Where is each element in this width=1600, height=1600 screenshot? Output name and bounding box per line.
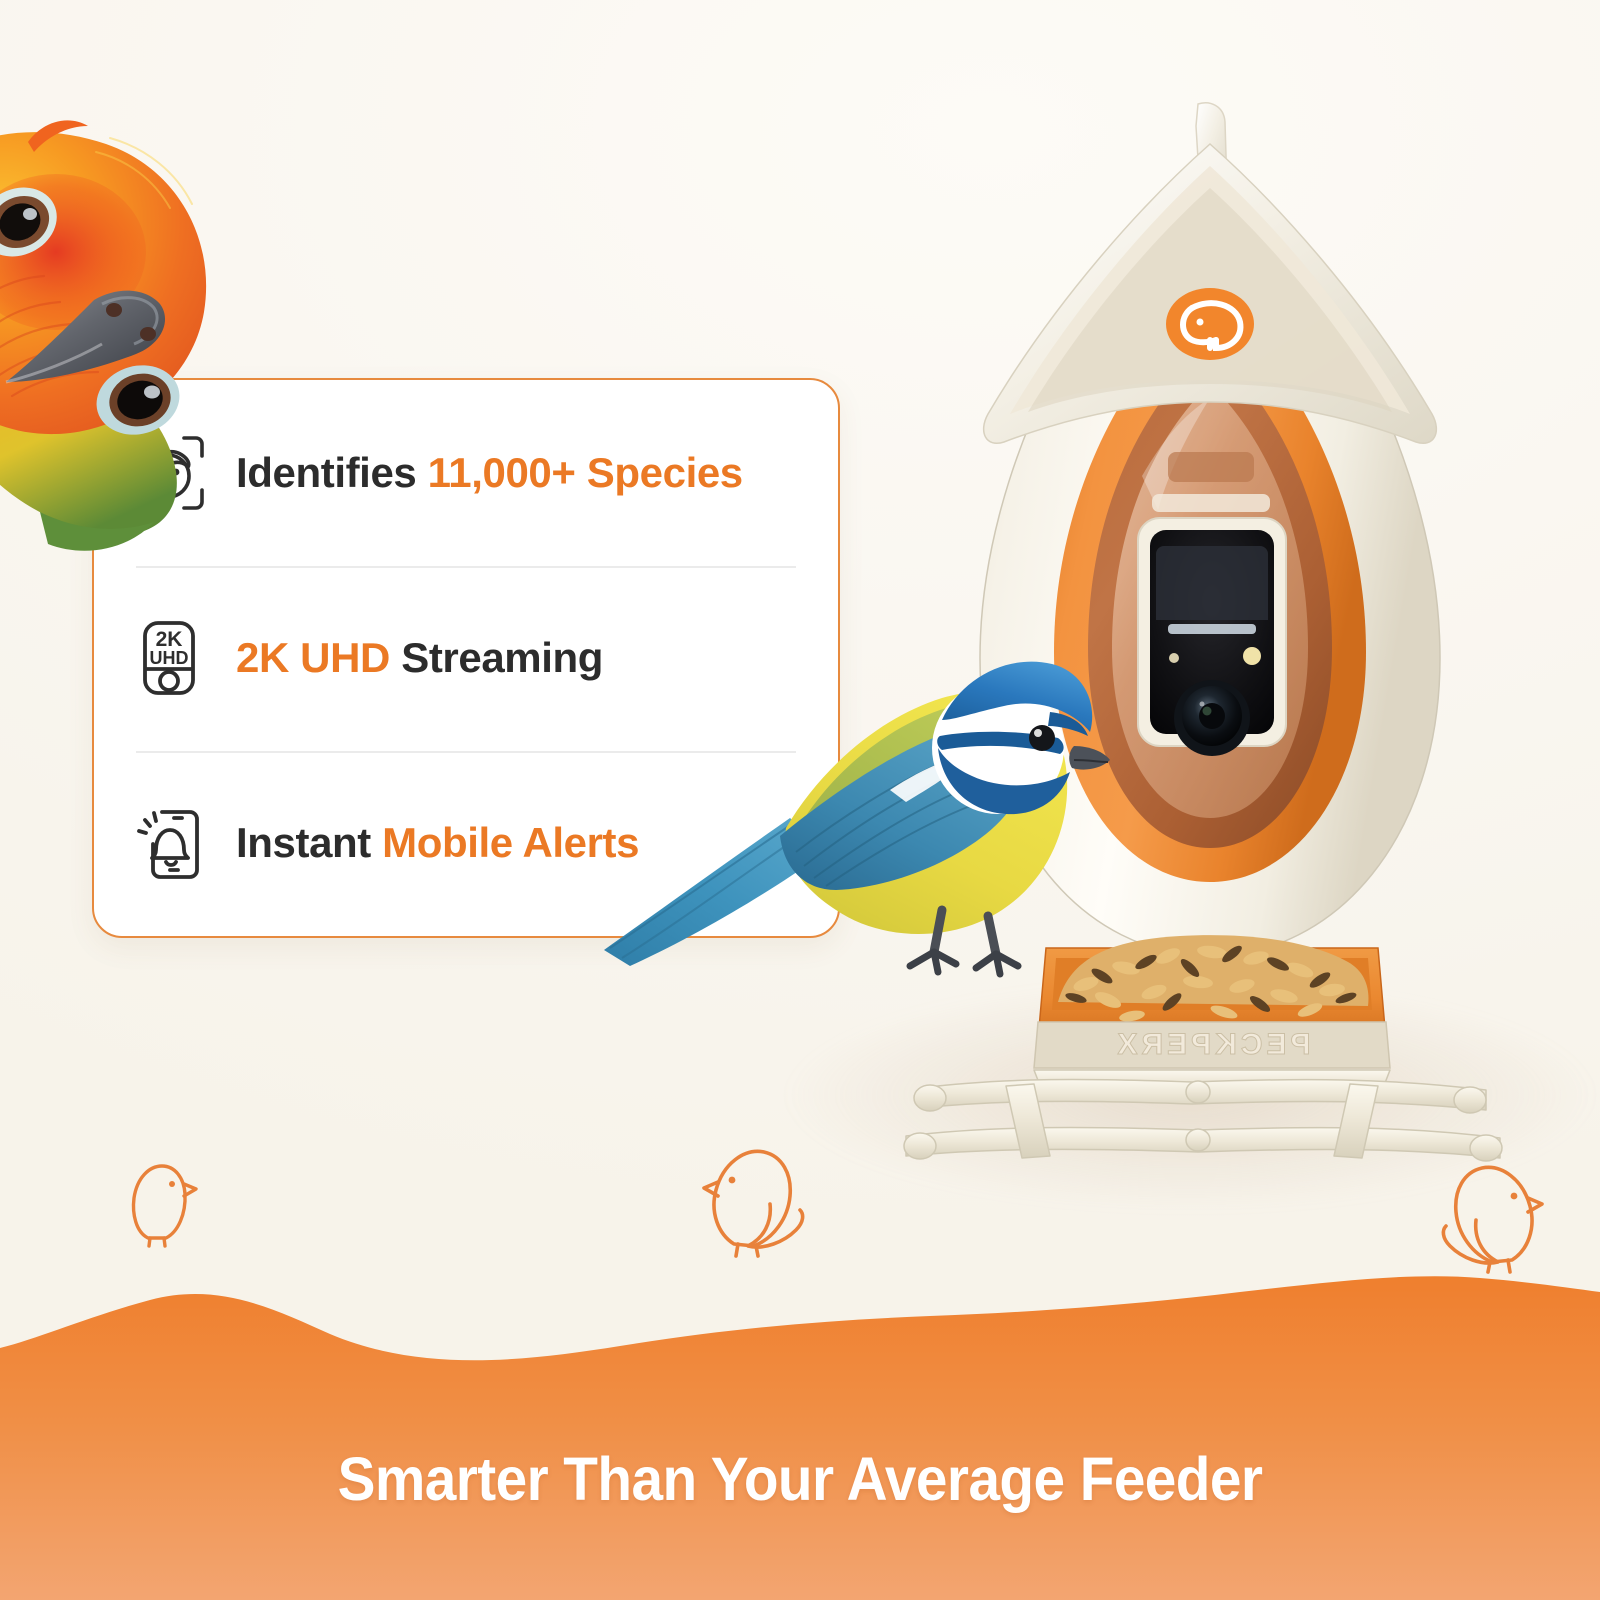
2k-uhd-camera-icon: 2K UHD: [132, 619, 206, 697]
feature-label-species: Identifies 11,000+ Species: [236, 449, 743, 497]
outline-bird-medium: [700, 1142, 810, 1262]
promo-graphic: PECKPERX: [0, 0, 1600, 1600]
feature-label-streaming: 2K UHD Streaming: [236, 634, 603, 682]
bottom-banner: Smarter Than Your Average Feeder: [0, 1230, 1600, 1600]
icon-text-uhd: UHD: [150, 648, 189, 668]
branch-perch: [904, 1070, 1502, 1161]
feature-label-alerts: Instant Mobile Alerts: [236, 819, 639, 867]
banner-headline: Smarter Than Your Average Feeder: [56, 1444, 1544, 1514]
outline-bird-right: [1436, 1160, 1546, 1280]
sun-conure-parrot: [0, 82, 276, 582]
bird-logo-badge: [1166, 288, 1254, 360]
phone-bell-alert-icon: [132, 804, 206, 882]
brand-emboss: PECKPERX: [1113, 1028, 1310, 1061]
outline-bird-small: [128, 1156, 198, 1251]
eurasian-blue-tit: [590, 580, 1090, 980]
